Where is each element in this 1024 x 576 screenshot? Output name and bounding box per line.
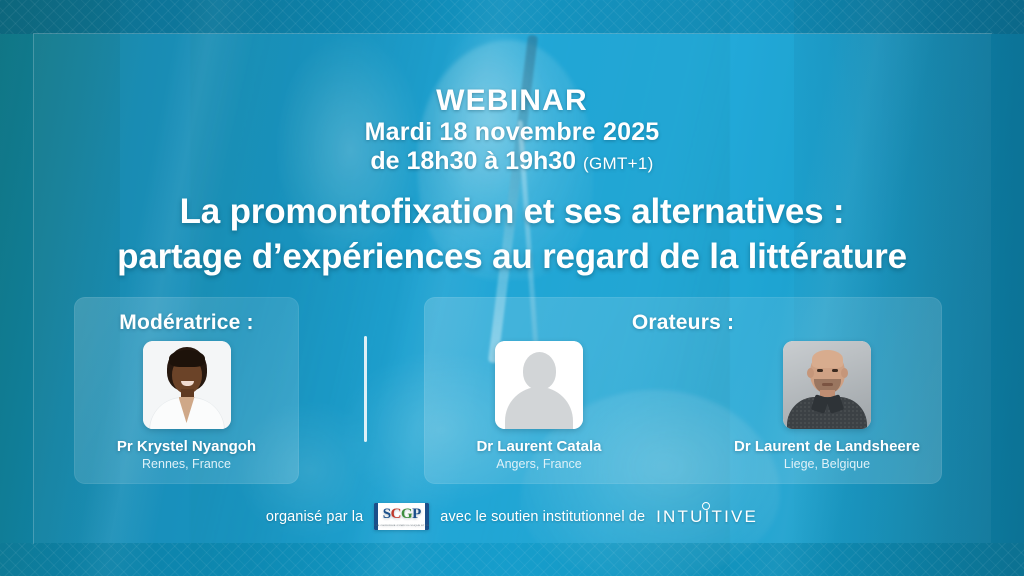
speakers-heading: Orateurs : xyxy=(424,311,942,335)
scgp-letter-s: S xyxy=(383,507,391,522)
webinar-kicker: WEBINAR xyxy=(0,84,1024,118)
portrait-ear-left xyxy=(807,368,814,378)
page-title-line-2: partage d’expériences au regard de la li… xyxy=(0,235,1024,280)
page-title: La promontofixation et ses alternatives … xyxy=(0,190,1024,280)
portrait-ear-right xyxy=(841,368,848,378)
webinar-poster: WEBINAR Mardi 18 novembre 2025 de 18h30 … xyxy=(0,0,1024,576)
webinar-time: de 18h30 à 19h30 xyxy=(370,147,576,175)
moderator-name: Pr Krystel Nyangoh xyxy=(74,438,299,455)
footer: organisé par la S C G P SOCIÉTÉ DE CHIRU… xyxy=(0,503,1024,530)
webinar-time-row: de 18h30 à 19h30 (GMT+1) xyxy=(0,147,1024,176)
scgp-letter-g: G xyxy=(401,507,412,522)
scgp-logo: S C G P SOCIÉTÉ DE CHIRURGIE GYNÉCOLOGIQ… xyxy=(374,503,429,530)
intuitive-logo: INTUITIVE xyxy=(656,507,758,527)
moderator-card: Pr Krystel Nyangoh Rennes, France xyxy=(74,341,299,471)
speaker-name: Dr Laurent Catala xyxy=(424,438,654,455)
speaker-card: Dr Laurent de Landsheere Liege, Belgique xyxy=(712,341,942,471)
scgp-letter-p: P xyxy=(412,507,421,522)
portrait-eye-left xyxy=(817,369,823,372)
webinar-date: Mardi 18 novembre 2025 xyxy=(0,118,1024,147)
portrait-mouth xyxy=(822,383,833,386)
organised-by-label: organisé par la xyxy=(266,509,363,525)
speaker-city: Angers, France xyxy=(424,457,654,471)
speaker-city: Liege, Belgique xyxy=(712,457,942,471)
scgp-logo-letters: S C G P xyxy=(383,507,421,522)
speaker-photo-placeholder xyxy=(495,341,583,429)
intuitive-logo-ring-icon xyxy=(702,502,710,510)
scgp-logo-subtitle: SOCIÉTÉ DE CHIRURGIE GYNÉCOLOGIQUE ET PE… xyxy=(374,524,429,527)
moderator-city: Rennes, France xyxy=(74,457,299,471)
panel-divider xyxy=(364,336,367,442)
page-title-line-1: La promontofixation et ses alternatives … xyxy=(0,190,1024,235)
speaker-photo xyxy=(783,341,871,429)
portrait-eye-right xyxy=(832,369,838,372)
avatar-silhouette-head-icon xyxy=(523,352,556,390)
portrait-smile xyxy=(181,381,194,386)
scgp-letter-c: C xyxy=(391,507,401,522)
portrait-hair-front xyxy=(169,350,205,367)
moderator-photo xyxy=(143,341,231,429)
portrait-bald-crown xyxy=(812,350,843,368)
speaker-card: Dr Laurent Catala Angers, France xyxy=(424,341,654,471)
speaker-name: Dr Laurent de Landsheere xyxy=(712,438,942,455)
moderator-heading: Modératrice : xyxy=(74,311,299,335)
support-label: avec le soutien institutionnel de xyxy=(440,509,645,525)
webinar-timezone: (GMT+1) xyxy=(583,154,654,173)
poster-content: WEBINAR Mardi 18 novembre 2025 de 18h30 … xyxy=(0,0,1024,576)
